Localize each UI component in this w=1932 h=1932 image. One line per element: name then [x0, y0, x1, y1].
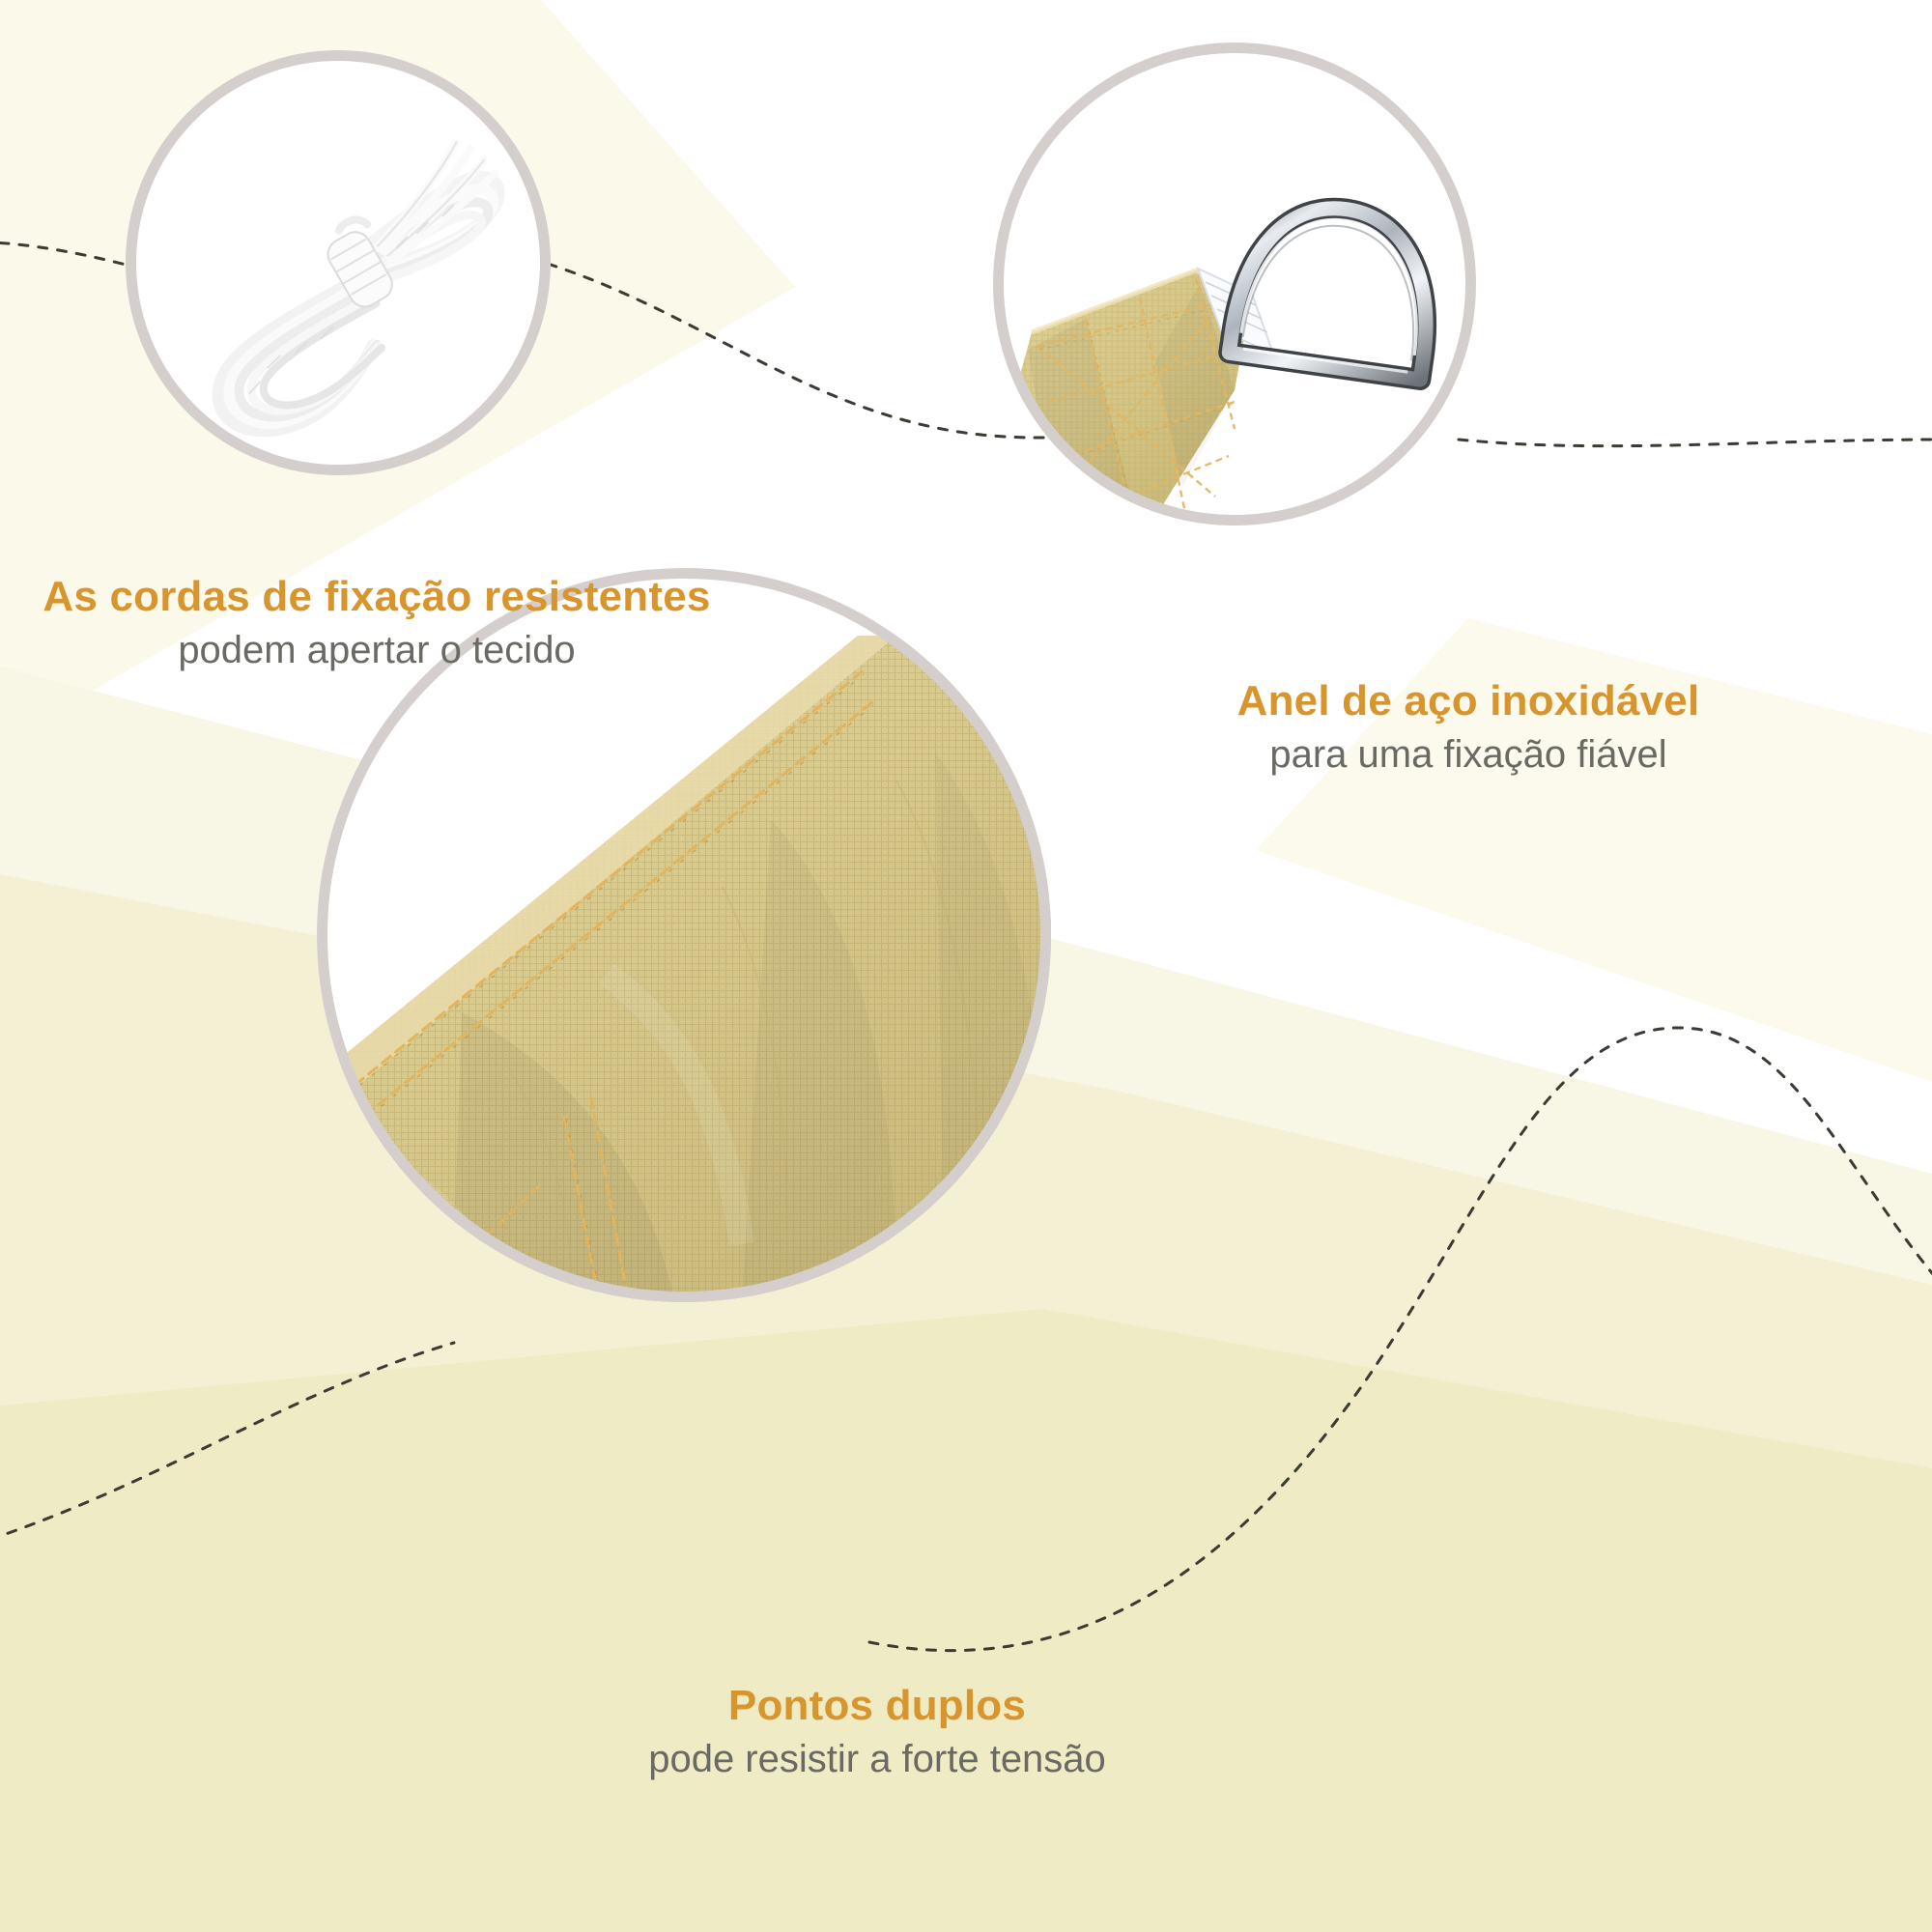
- feature-caption-d-ring: Anel de aço inoxidável para uma fixação …: [1014, 676, 1922, 778]
- feature-title-rope: As cordas de fixação resistentes: [29, 572, 724, 621]
- feature-caption-double-stitch: Pontos duplos pode resistir a forte tens…: [394, 1681, 1360, 1782]
- feature-title-double-stitch: Pontos duplos: [394, 1681, 1360, 1730]
- infographic-canvas: As cordas de fixação resistentes podem a…: [0, 0, 1932, 1932]
- feature-subtitle-d-ring: para uma fixação fiável: [1014, 731, 1922, 778]
- feature-subtitle-double-stitch: pode resistir a forte tensão: [394, 1736, 1360, 1782]
- feature-image-double-stitch: [317, 568, 1051, 1302]
- feature-title-d-ring: Anel de aço inoxidável: [1014, 676, 1922, 725]
- coiled-rope-illustration: [126, 50, 551, 475]
- feature-caption-rope: As cordas de fixação resistentes podem a…: [29, 572, 724, 673]
- feature-image-d-ring: [993, 43, 1476, 526]
- feature-subtitle-rope: podem apertar o tecido: [29, 627, 724, 673]
- d-ring-on-fabric-illustration: [993, 43, 1476, 526]
- double-stitched-hem-illustration: [317, 568, 1051, 1302]
- feature-image-rope: [126, 50, 551, 475]
